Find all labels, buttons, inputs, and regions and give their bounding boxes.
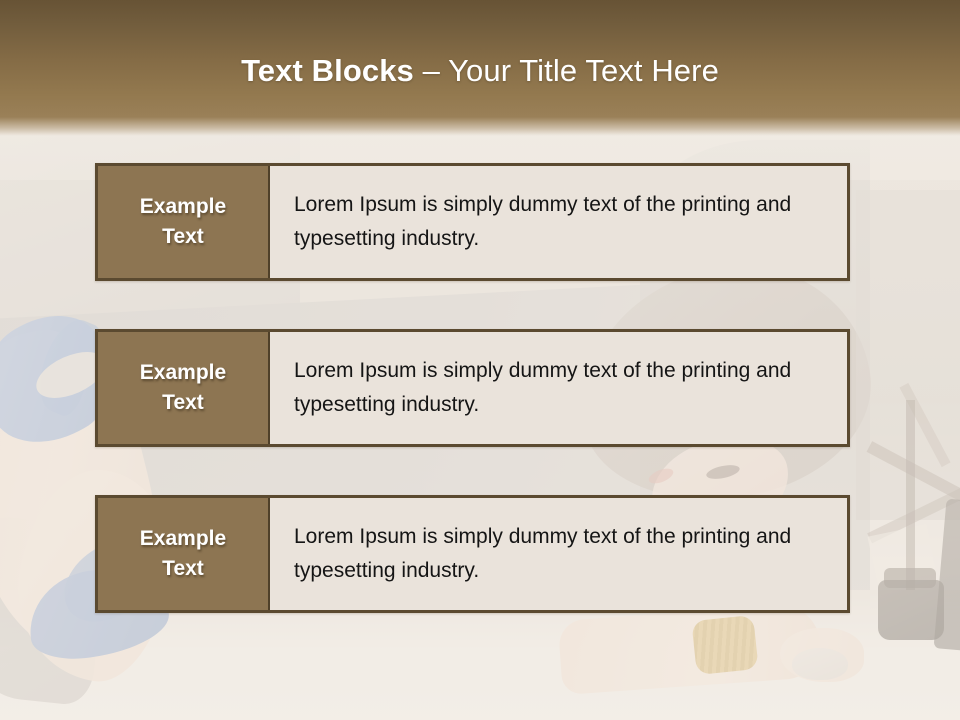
text-block-label-panel-3[interactable]: Example Text (98, 498, 270, 610)
text-block-body-panel-2[interactable]: Lorem Ipsum is simply dummy text of the … (270, 332, 847, 444)
text-block-row-3[interactable]: Example Text Lorem Ipsum is simply dummy… (95, 495, 850, 613)
text-block-body-1: Lorem Ipsum is simply dummy text of the … (294, 188, 794, 256)
text-block-label-panel-1[interactable]: Example Text (98, 166, 270, 278)
text-block-label-2: Example Text (140, 358, 226, 418)
page-title: Text Blocks – Your Title Text Here (0, 52, 960, 90)
text-blocks-group: Example Text Lorem Ipsum is simply dummy… (95, 163, 850, 613)
text-block-body-panel-3[interactable]: Lorem Ipsum is simply dummy text of the … (270, 498, 847, 610)
text-block-label-1: Example Text (140, 192, 226, 252)
text-block-body-3: Lorem Ipsum is simply dummy text of the … (294, 520, 794, 588)
text-block-row-2[interactable]: Example Text Lorem Ipsum is simply dummy… (95, 329, 850, 447)
page-title-rest: Your Title Text Here (448, 53, 719, 88)
text-block-body-panel-1[interactable]: Lorem Ipsum is simply dummy text of the … (270, 166, 847, 278)
text-block-body-2: Lorem Ipsum is simply dummy text of the … (294, 354, 794, 422)
page-title-strong: Text Blocks (241, 53, 414, 88)
text-block-label-3: Example Text (140, 524, 226, 584)
slide-canvas: Text Blocks – Your Title Text Here Examp… (0, 0, 960, 720)
text-block-label-panel-2[interactable]: Example Text (98, 332, 270, 444)
page-title-separator: – (414, 53, 448, 88)
text-block-row-1[interactable]: Example Text Lorem Ipsum is simply dummy… (95, 163, 850, 281)
